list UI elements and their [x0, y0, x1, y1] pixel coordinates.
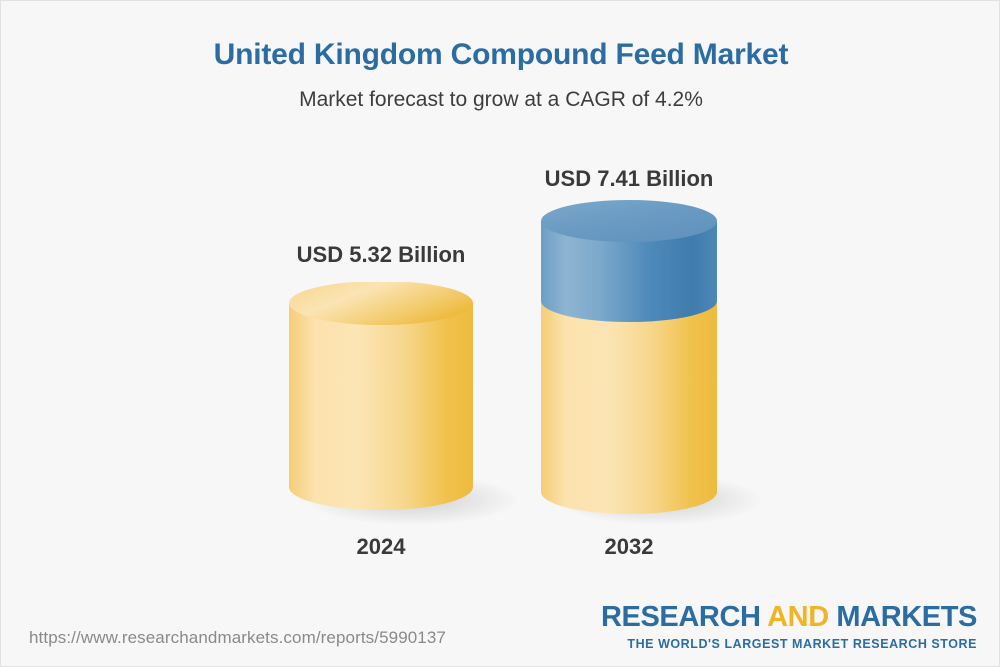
- logo-word-research: RESEARCH: [601, 601, 767, 633]
- logo-tagline: THE WORLD'S LARGEST MARKET RESEARCH STOR…: [601, 632, 977, 651]
- bar-category-label-2032: 2032: [541, 534, 717, 560]
- source-url[interactable]: https://www.researchandmarkets.com/repor…: [29, 628, 446, 648]
- bar-cylinder-2032: [541, 200, 717, 514]
- bar-cylinder-2024: [289, 282, 473, 514]
- logo-word-and: AND: [767, 601, 836, 633]
- bar-group-2032: USD 7.41 Billion: [541, 1, 717, 667]
- brand-logo[interactable]: RESEARCH AND MARKETS THE WORLD'S LARGEST…: [601, 603, 977, 651]
- bar-group-2024: USD 5.32 Billion: [289, 1, 473, 667]
- logo-wordmark: RESEARCH AND MARKETS: [601, 603, 977, 632]
- cylinder-2024-svg: [289, 282, 473, 514]
- chart-plot-area: USD 5.32 Billion: [1, 1, 1000, 667]
- bar-value-label-2024: USD 5.32 Billion: [289, 242, 473, 268]
- logo-word-markets: MARKETS: [836, 601, 977, 633]
- infographic-card: United Kingdom Compound Feed Market Mark…: [0, 0, 1000, 667]
- bar-value-label-2032: USD 7.41 Billion: [541, 166, 717, 192]
- cylinder-2032-svg: [541, 200, 717, 514]
- bar-category-label-2024: 2024: [289, 534, 473, 560]
